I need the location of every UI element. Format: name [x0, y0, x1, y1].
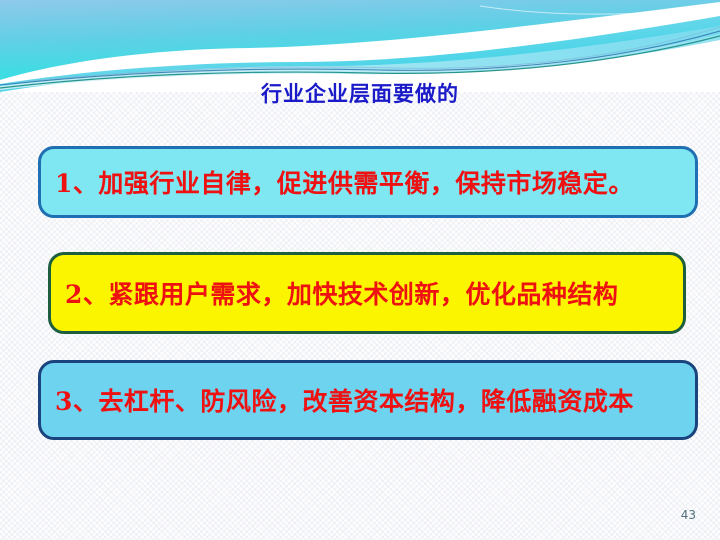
slide-page-number: 43	[681, 508, 696, 522]
content-box-item-2[interactable]: 2、紧跟用户需求，加快技术创新，优化品种结构	[48, 252, 686, 334]
content-box-item-1[interactable]: 1、加强行业自律，促进供需平衡，保持市场稳定。	[38, 146, 698, 218]
content-box-item-2-text: 2、紧跟用户需求，加快技术创新，优化品种结构	[65, 275, 618, 311]
presentation-slide: 行业企业层面要做的 1、加强行业自律，促进供需平衡，保持市场稳定。 2、紧跟用户…	[0, 0, 720, 540]
content-box-item-1-text: 1、加强行业自律，促进供需平衡，保持市场稳定。	[55, 164, 634, 200]
page-title: 行业企业层面要做的	[0, 78, 720, 108]
content-box-item-3[interactable]: 3、去杠杆、防风险，改善资本结构，降低融资成本	[38, 360, 698, 440]
content-box-item-3-text: 3、去杠杆、防风险，改善资本结构，降低融资成本	[55, 382, 634, 418]
